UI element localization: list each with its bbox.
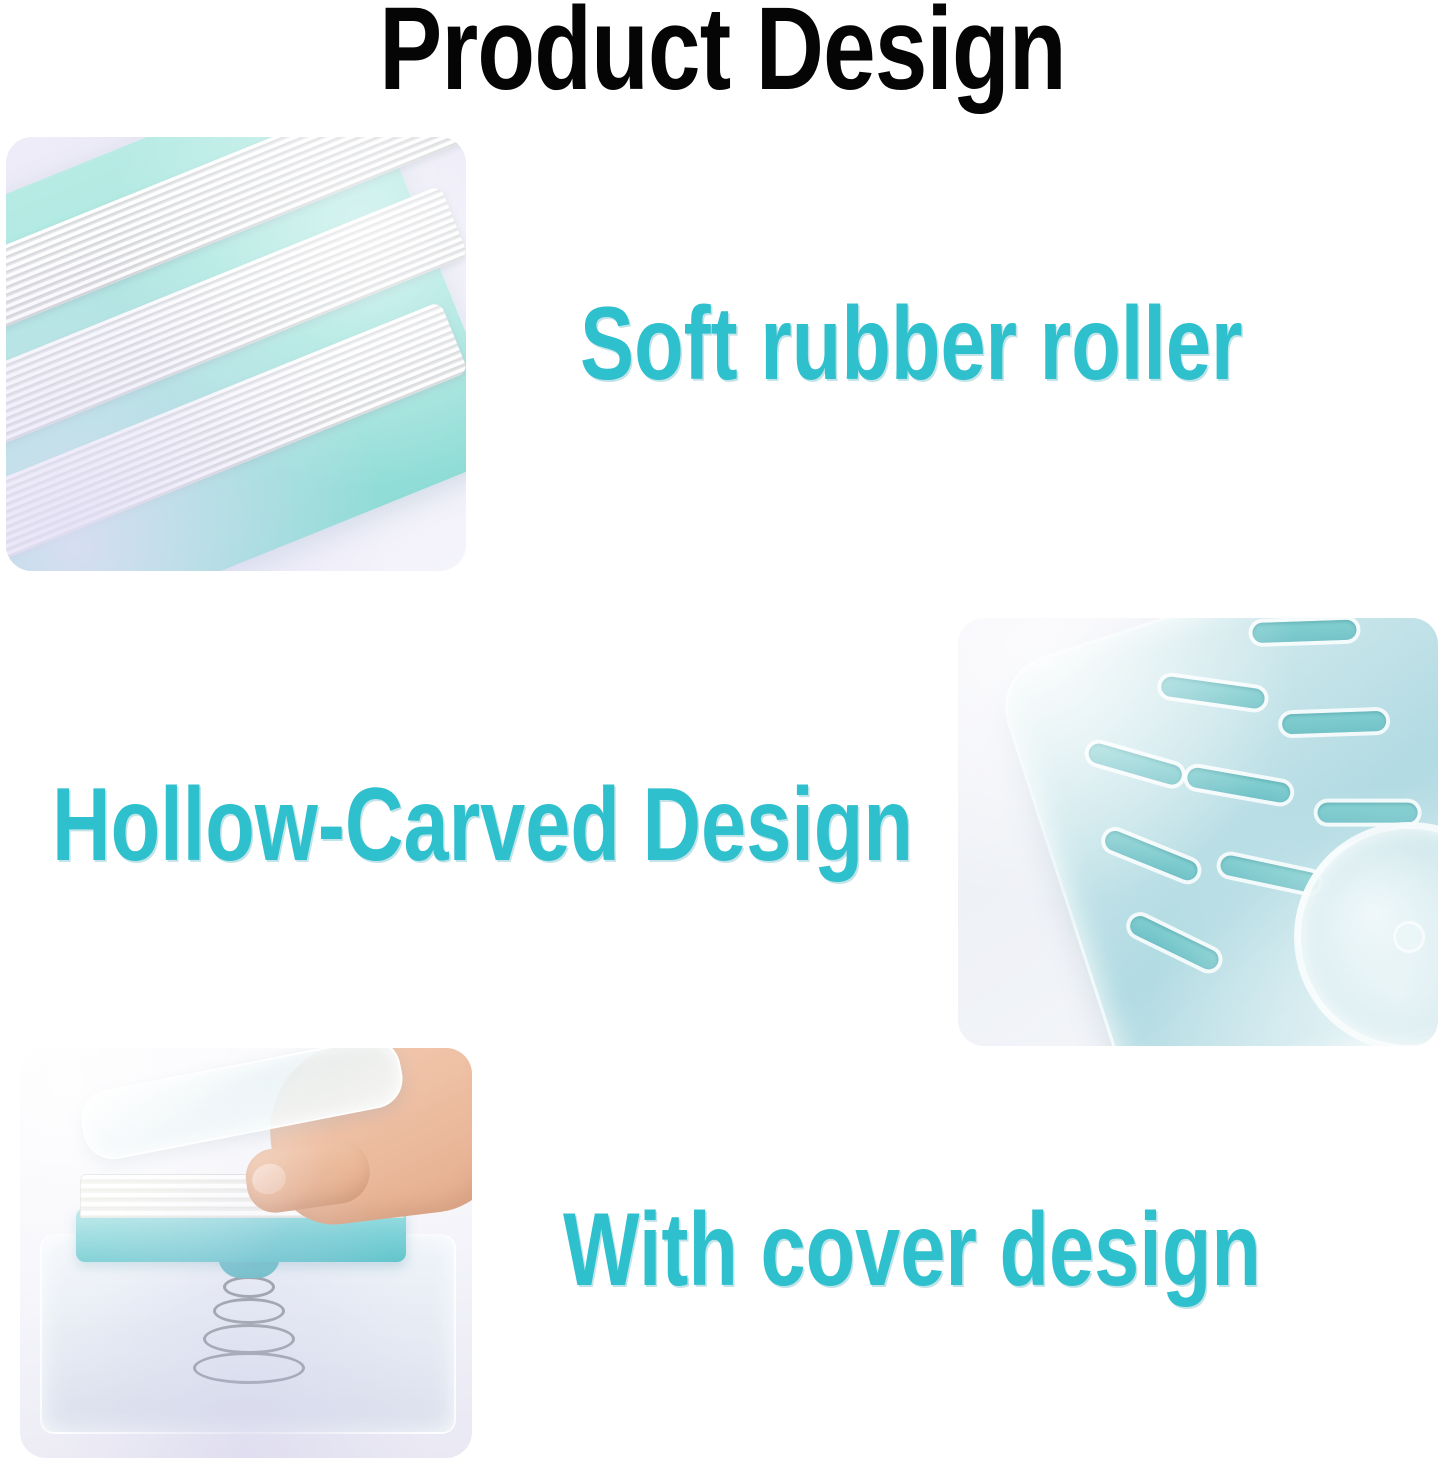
page-title: Product Design [145,0,1301,108]
photo-highlight [6,137,466,571]
photo-with-cover-design [20,1048,472,1458]
photo-highlight [20,1048,472,1458]
caption-with-cover-design: With cover design [563,1198,1261,1302]
photo-highlight [958,618,1438,1046]
photo-soft-rubber-roller [6,137,466,571]
caption-soft-rubber-roller: Soft rubber roller [580,292,1243,396]
caption-hollow-carved-design: Hollow-Carved Design [52,773,913,877]
photo-hollow-carved-design [958,618,1438,1046]
